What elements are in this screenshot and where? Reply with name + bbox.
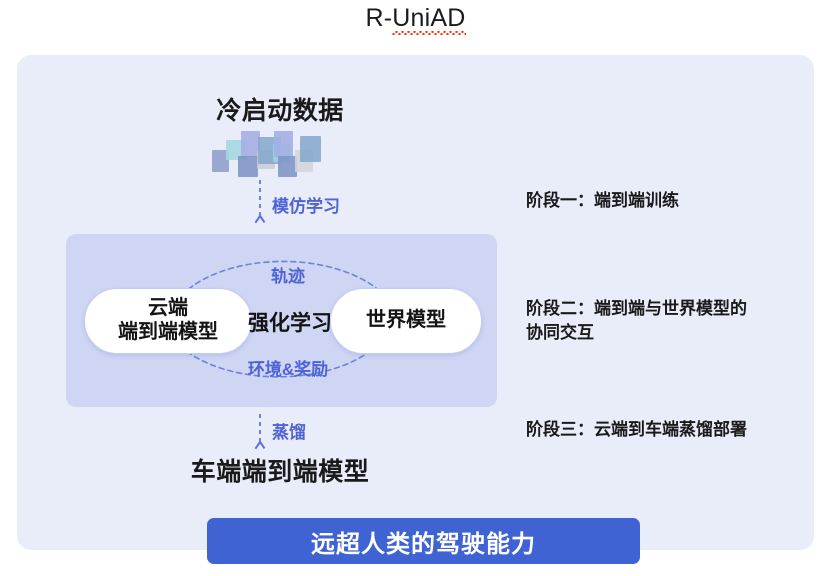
data-square-11 bbox=[300, 136, 321, 162]
data-square-8 bbox=[274, 131, 293, 157]
page-title-prefix: R- bbox=[365, 4, 392, 32]
outcome-banner: 远超人类的驾驶能力 bbox=[207, 518, 640, 564]
data-square-4 bbox=[238, 156, 258, 177]
page-title: R-UniAD bbox=[0, 4, 831, 33]
cloud-model-line1: 云端 bbox=[148, 297, 188, 319]
cold-start-data-label: 冷启动数据 bbox=[110, 91, 450, 127]
world-model-node[interactable]: 世界模型 bbox=[330, 288, 482, 354]
trajectory-label: 轨迹 bbox=[233, 262, 343, 287]
stage-1-label: 阶段一：端到端训练 bbox=[526, 189, 679, 213]
stage-2-label: 阶段二：端到端与世界模型的 协同交互 bbox=[526, 297, 747, 345]
data-squares-icon bbox=[212, 131, 330, 177]
stage-3-label: 阶段三：云端到车端蒸馏部署 bbox=[526, 418, 747, 442]
distillation-label: 蒸馏 bbox=[272, 418, 306, 443]
page-title-misspelled-word: UniAD bbox=[392, 4, 465, 33]
imitation-learning-label: 模仿学习 bbox=[272, 192, 340, 217]
environment-reward-label: 环境&奖励 bbox=[223, 355, 353, 380]
vehicle-end-to-end-model-label: 车端端到端模型 bbox=[95, 452, 465, 488]
imitation-learning-arrow-icon bbox=[259, 180, 261, 218]
cloud-end-to-end-model-node[interactable]: 云端端到端模型 bbox=[84, 288, 252, 354]
reinforcement-learning-label: 强化学习 bbox=[240, 307, 340, 337]
cloud-model-text: 云端端到端模型 bbox=[118, 297, 218, 344]
distillation-arrow-icon bbox=[259, 414, 261, 444]
arrowhead-down-icon bbox=[255, 442, 265, 452]
cloud-model-line2: 端到端模型 bbox=[118, 321, 218, 343]
arrowhead-down-icon bbox=[255, 216, 265, 226]
